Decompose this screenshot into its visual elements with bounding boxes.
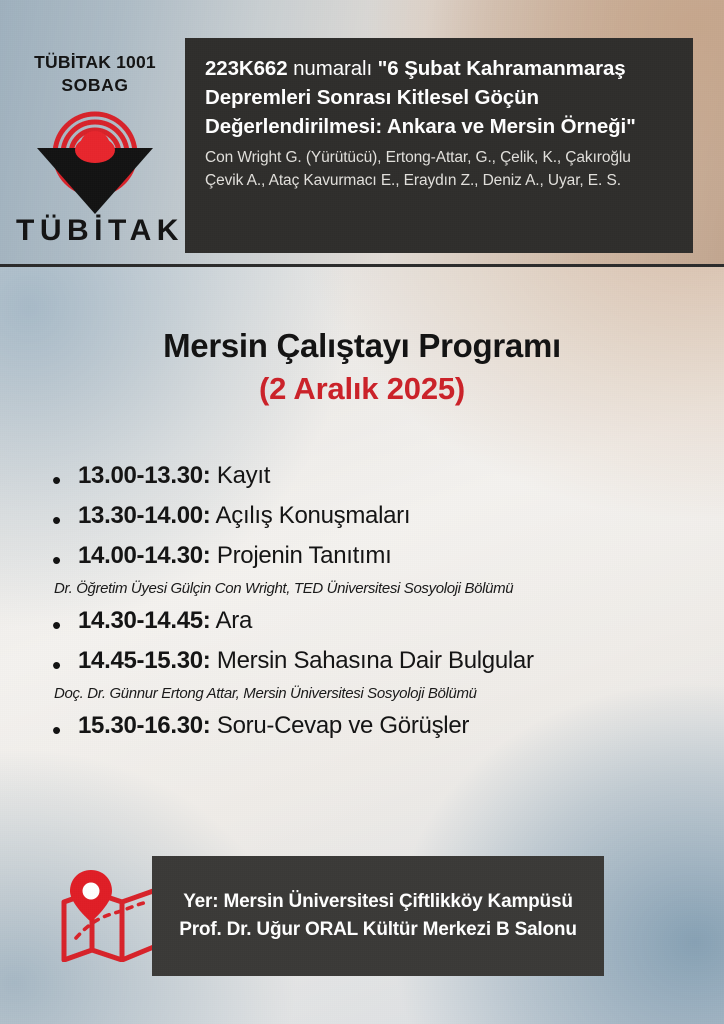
program-item-title: Mersin Sahasına Dair Bulgular [211, 647, 534, 674]
bullet-icon: • [52, 542, 78, 573]
bullet-icon: • [52, 462, 78, 493]
program-item-title: Açılış Konuşmaları [211, 502, 411, 529]
header-divider-rule [0, 264, 724, 267]
tubitak-logo-icon [29, 110, 161, 214]
program-item-time: 13.30-14.00: [78, 502, 211, 529]
program-item-text: 13.30-14.00: Açılış Konuşmaları [78, 502, 682, 530]
program-item-text: 13.00-13.30: Kayıt [78, 462, 682, 490]
venue-section: Yer: Mersin Üniversitesi Çiftlikköy Kamp… [0, 856, 724, 978]
program-item-title: Soru-Cevap ve Görüşler [211, 712, 470, 739]
program-item-note: Doç. Dr. Günnur Ertong Attar, Mersin Üni… [54, 685, 682, 703]
program-item-text: 14.45-15.30: Mersin Sahasına Dair Bulgul… [78, 647, 682, 675]
tubitak-wordmark: TÜBİTAK [16, 216, 174, 246]
venue-card: Yer: Mersin Üniversitesi Çiftlikköy Kamp… [152, 856, 604, 976]
program-item-time: 14.00-14.30: [78, 542, 211, 569]
program-item-time: 14.30-14.45: [78, 607, 211, 634]
program-item: •13.00-13.30: Kayıt [52, 462, 682, 493]
tubitak-panel-label: SOBAG [16, 74, 174, 98]
program-item-title: Ara [211, 607, 253, 634]
project-title: 223K662 numaralı "6 Şubat Kahramanmaraş … [205, 54, 673, 141]
program-item-time: 14.45-15.30: [78, 647, 211, 674]
program-item-note: Dr. Öğretim Üyesi Gülçin Con Wright, TED… [54, 580, 682, 598]
program-item-time: 15.30-16.30: [78, 712, 211, 739]
program-item-text: 14.00-14.30: Projenin Tanıtımı [78, 542, 682, 570]
program-schedule-list: •13.00-13.30: Kayıt•13.30-14.00: Açılış … [52, 462, 682, 752]
bullet-icon: • [52, 647, 78, 678]
program-item: •14.00-14.30: Projenin Tanıtımı [52, 542, 682, 573]
venue-text: Yer: Mersin Üniversitesi Çiftlikköy Kamp… [152, 888, 604, 943]
page-title-date: (2 Aralık 2025) [0, 371, 724, 408]
bullet-icon: • [52, 712, 78, 743]
page-title-group: Mersin Çalıştayı Programı (2 Aralık 2025… [0, 327, 724, 408]
program-item-text: 14.30-14.45: Ara [78, 607, 682, 635]
project-authors: Con Wright G. (Yürütücü), Ertong-Attar, … [205, 147, 673, 193]
project-title-card: 223K662 numaralı "6 Şubat Kahramanmaraş … [185, 38, 693, 253]
poster-canvas: TÜBİTAK 1001 SOBAG TÜBİTAK 223K662 numar… [0, 0, 724, 1024]
program-item-title: Kayıt [211, 462, 271, 489]
program-item: •13.30-14.00: Açılış Konuşmaları [52, 502, 682, 533]
map-location-pin-icon [58, 870, 164, 962]
program-item-time: 13.00-13.30: [78, 462, 211, 489]
tubitak-program-label: TÜBİTAK 1001 [16, 52, 174, 73]
program-item: •15.30-16.30: Soru-Cevap ve Görüşler [52, 712, 682, 743]
project-title-connector: numaralı [288, 57, 378, 80]
bullet-icon: • [52, 607, 78, 638]
program-item-title: Projenin Tanıtımı [211, 542, 392, 569]
tubitak-logo-block: TÜBİTAK 1001 SOBAG TÜBİTAK [16, 52, 174, 257]
program-item-text: 15.30-16.30: Soru-Cevap ve Görüşler [78, 712, 682, 740]
program-item: •14.45-15.30: Mersin Sahasına Dair Bulgu… [52, 647, 682, 678]
page-title: Mersin Çalıştayı Programı [0, 327, 724, 366]
project-code: 223K662 [205, 57, 288, 80]
bullet-icon: • [52, 502, 78, 533]
program-item: •14.30-14.45: Ara [52, 607, 682, 638]
